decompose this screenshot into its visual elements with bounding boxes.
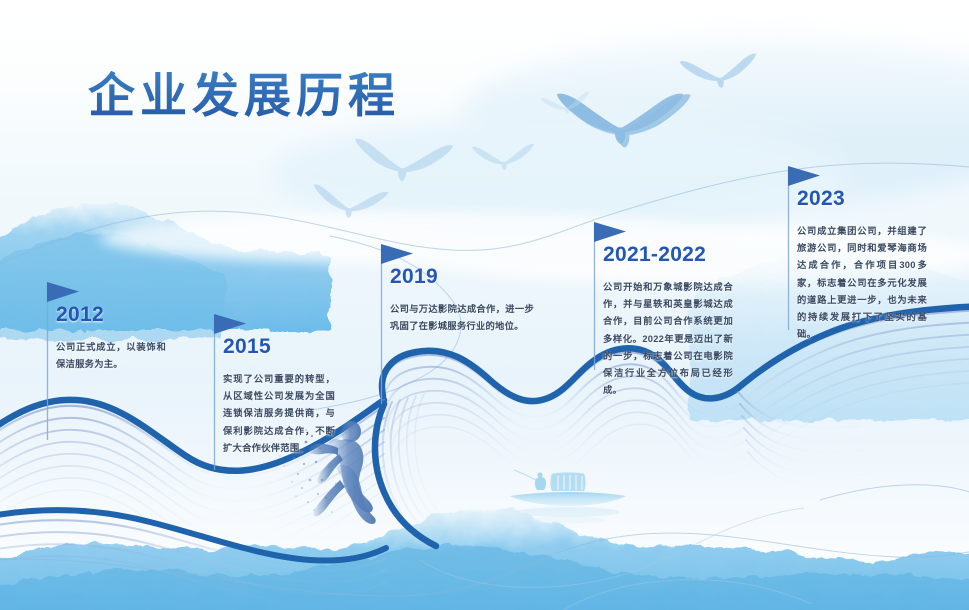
milestone-2023[interactable]: 2023 公司成立集团公司，并组建了旅游公司，同时和爱琴海商场达成合作，合作项目… (775, 166, 935, 343)
flag-marker-2015 (213, 313, 257, 343)
milestone-desc: 公司正式成立，以装饰和保洁服务为主。 (56, 339, 166, 373)
milestone-2012[interactable]: 2012 公司正式成立，以装饰和保洁服务为主。 (34, 282, 172, 373)
milestone-2015[interactable]: 2015 实现了公司重要的转型，从区域性公司发展为全国连锁保洁服务提供商，与保利… (201, 314, 341, 457)
milestone-2019[interactable]: 2019 公司与万达影院达成合作，进一步巩固了在影城服务行业的地位。 (368, 244, 538, 335)
milestone-desc: 公司开始和万象城影院达成合作，并与星轶和英皇影城达成合作，目前公司合作系统更加多… (603, 279, 733, 399)
infographic-canvas: 企业发展历程 2012 公司正式成立，以装饰和保洁服务为主。 2015 实现了公… (0, 0, 969, 610)
flag-marker-2012 (46, 281, 90, 311)
flag-marker-2019 (380, 243, 424, 273)
milestone-desc: 实现了公司重要的转型，从区域性公司发展为全国连锁保洁服务提供商，与保利影院达成合… (223, 371, 335, 457)
flag-marker-2021-2022 (593, 221, 637, 251)
milestone-desc: 公司与万达影院达成合作，进一步巩固了在影城服务行业的地位。 (390, 301, 534, 335)
milestone-desc: 公司成立集团公司，并组建了旅游公司，同时和爱琴海商场达成合作，合作项目300多家… (797, 223, 927, 343)
milestone-2021-2022[interactable]: 2021-2022 公司开始和万象城影院达成合作，并与星轶和英皇影城达成合作，目… (581, 222, 741, 399)
flag-marker-2023 (787, 165, 831, 195)
